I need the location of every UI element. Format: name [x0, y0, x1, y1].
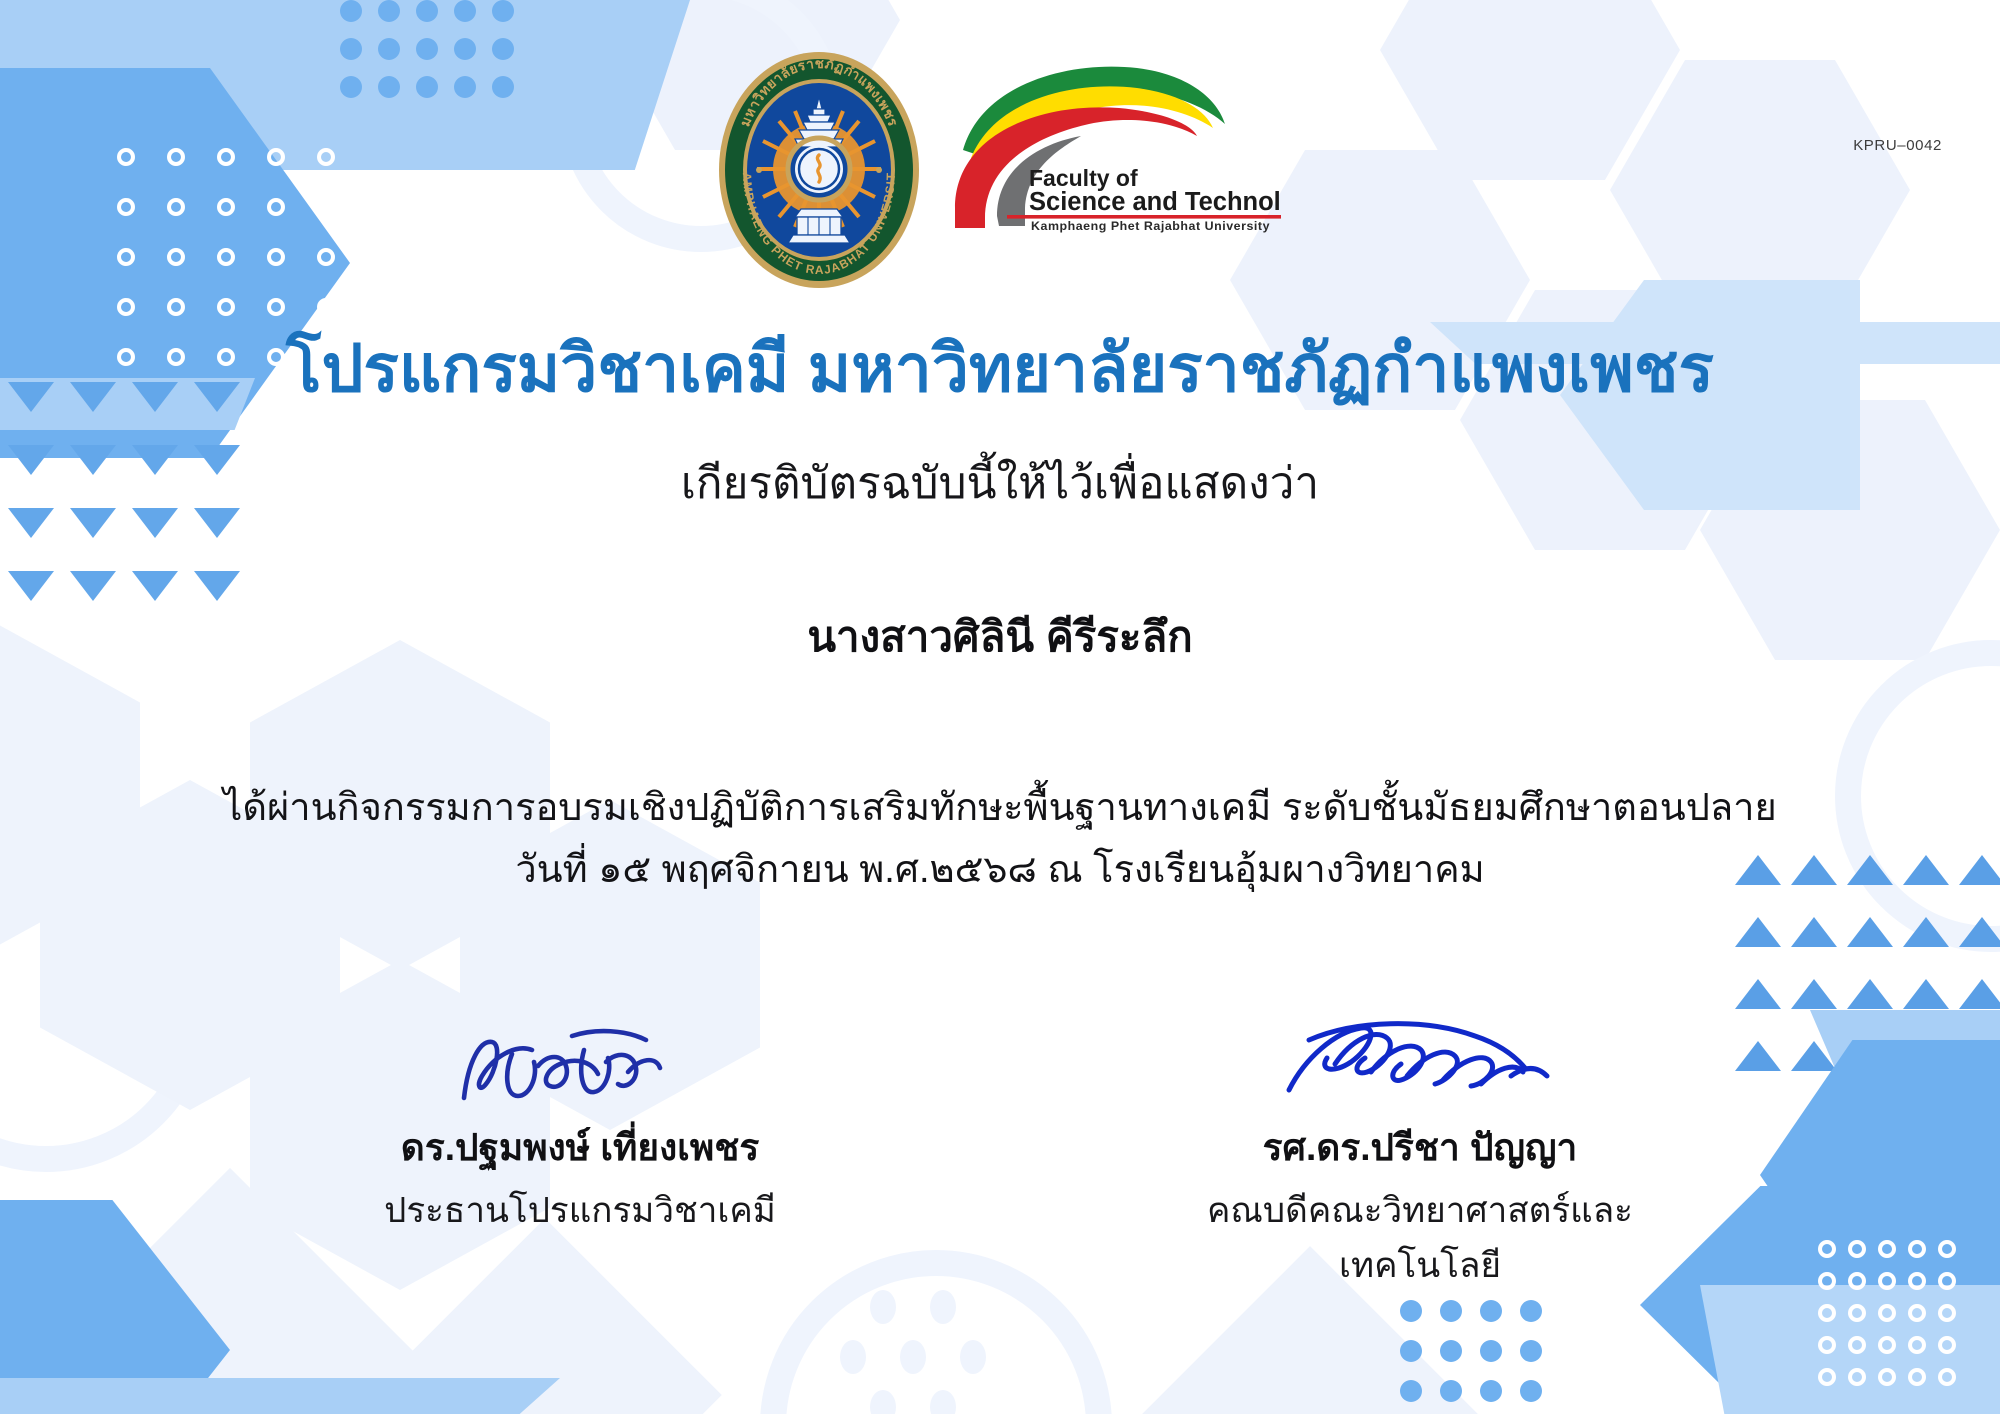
faculty-of-science-and-technology-logo-icon: Faculty of Science and Technology Kampha…: [941, 58, 1281, 233]
watermark-ring: [1760, 1300, 2000, 1414]
watermark-dot: [900, 1340, 926, 1374]
certificate-code: KPRU–0042: [1853, 137, 1942, 154]
certificate-page: มหาวิทยาลัยราชภัฏกำแพงเพชร KAMPHAENG PHE…: [0, 0, 2000, 1414]
signature-role-right: คณบดีคณะวิทยาศาสตร์และเทคโนโลยี: [1180, 1183, 1660, 1293]
kpru-university-seal-icon: มหาวิทยาลัยราชภัฏกำแพงเพชร KAMPHAENG PHE…: [719, 52, 919, 288]
watermark-dot: [870, 1290, 896, 1324]
signature-role-left: ประธานโปรแกรมวิชาเคมี: [340, 1183, 820, 1238]
decor-band-bottom-left: [0, 1378, 560, 1414]
handwritten-signature-right-icon: [1180, 1010, 1660, 1114]
watermark-dot: [960, 1340, 986, 1374]
watermark-dot: [840, 1340, 866, 1374]
body-line-1: ได้ผ่านกิจกรรมการอบรมเชิงปฏิบัติการเสริม…: [0, 778, 2000, 840]
signature-name-right: รศ.ดร.ปรีชา ปัญญา: [1180, 1118, 1660, 1177]
svg-text:มหาวิทยาลัยราชภัฏกำแพงเพชร: มหาวิทยาลัยราชภัฏกำแพงเพชร: [737, 56, 901, 129]
decor-blue-dot-cluster-bottom: [1400, 1300, 1560, 1414]
signature-block-right: รศ.ดร.ปรีชา ปัญญา คณบดีคณะวิทยาศาสตร์และ…: [1180, 1010, 1660, 1293]
watermark-dot: [930, 1290, 956, 1324]
watermark-dot: [870, 1390, 896, 1414]
signature-row: ดร.ปฐมพงษ์ เที่ยงเพชร ประธานโปรแกรมวิชาเ…: [0, 1010, 2000, 1293]
certificate-body: ได้ผ่านกิจกรรมการอบรมเชิงปฏิบัติการเสริม…: [0, 778, 2000, 901]
faculty-logo-line2: Science and Technology: [1029, 188, 1281, 216]
watermark-dot: [930, 1390, 956, 1414]
seal-thai-ring-text: มหาวิทยาลัยราชภัฏกำแพงเพชร: [737, 56, 901, 129]
body-line-2: วันที่ ๑๕ พฤศจิกายน พ.ศ.๒๕๖๘ ณ โรงเรียนอ…: [0, 840, 2000, 902]
logo-row: มหาวิทยาลัยราชภัฏกำแพงเพชร KAMPHAENG PHE…: [0, 52, 2000, 288]
faculty-logo-line3: Kamphaeng Phet Rajabhat University: [1031, 219, 1270, 233]
page-title: โปรแกรมวิชาเคมี มหาวิทยาลัยราชภัฏกำแพงเพ…: [0, 316, 2000, 421]
recipient-name: นางสาวศิลินี คีรีระลึก: [0, 604, 2000, 670]
signature-block-left: ดร.ปฐมพงษ์ เที่ยงเพชร ประธานโปรแกรมวิชาเ…: [340, 1010, 820, 1293]
handwritten-signature-left-icon: [340, 1010, 820, 1114]
certificate-subtitle: เกียรติบัตรฉบับนี้ให้ไว้เพื่อแสดงว่า: [0, 448, 2000, 518]
signature-name-left: ดร.ปฐมพงษ์ เที่ยงเพชร: [340, 1118, 820, 1177]
decor-band-bottom-right: [1700, 1285, 2000, 1414]
